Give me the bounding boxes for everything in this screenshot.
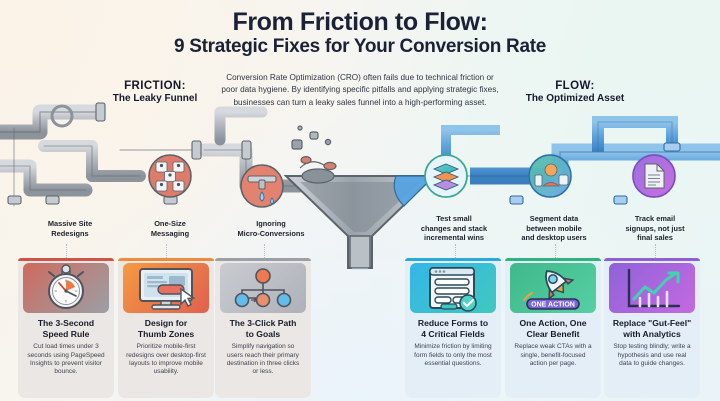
connector-line: [555, 244, 556, 258]
pipe-label-ignoring-micro-conversions: IgnoringMicro-Conversions: [216, 219, 326, 238]
pipe-label-massive-site-redesigns: Massive SiteRedesigns: [28, 219, 112, 238]
card-description: Simplify navigation so users reach their…: [220, 343, 306, 377]
card-title: One Action, OneClear Benefit: [510, 318, 596, 339]
card-accent-bar: [18, 258, 114, 261]
card-accent-bar: [505, 258, 601, 261]
form-check-icon: [410, 263, 496, 313]
card-title: Reduce Forms to4 Critical Fields: [410, 318, 496, 339]
desktop-cursor-icon: [123, 263, 209, 313]
card-accent-bar: [215, 258, 311, 261]
people-grid-icon: [149, 155, 191, 197]
document-icon: [633, 155, 675, 197]
connector-line: [655, 244, 656, 258]
card-accent-bar: [405, 258, 501, 261]
pipe-label-track-email-signups: Track emailsignups, not justfinal sales: [606, 214, 704, 243]
card-replace-gut-feel-with-analytics[interactable]: Replace "Gut-Feel"with Analytics Stop te…: [604, 258, 700, 398]
audience-segment-icon: [529, 155, 571, 197]
layers-icon: [425, 155, 467, 197]
card-description: Cut load times under 3 seconds using Pag…: [23, 343, 109, 377]
card-description: Stop testing blindly; write a hypothesis…: [609, 343, 695, 368]
connector-line: [455, 244, 456, 258]
pipe-label-segment-data: Segment databetween mobileand desktop us…: [504, 214, 604, 243]
rocket-icon: ONE ACTION: [510, 263, 596, 313]
card-description: Prioritize mobile-first redesigns over d…: [123, 343, 209, 377]
card-title: Replace "Gut-Feel"with Analytics: [609, 318, 695, 339]
card-one-action-one-clear-benefit[interactable]: ONE ACTION One Action, OneClear Benefit …: [505, 258, 601, 398]
card-three-click-path-to-goals[interactable]: The 3-Click Pathto Goals Simplify naviga…: [215, 258, 311, 398]
infographic-poster: From Friction to Flow: 9 Strategic Fixes…: [0, 0, 720, 401]
connector-line: [264, 244, 265, 258]
card-title: The 3-SecondSpeed Rule: [23, 318, 109, 339]
connector-line: [166, 244, 167, 258]
leaking-valve-icon: [241, 165, 283, 207]
connector-line: [66, 244, 67, 258]
one-action-badge-text: ONE ACTION: [531, 301, 575, 308]
card-accent-bar: [118, 258, 214, 261]
card-description: Replace weak CTAs with a single, benefit…: [510, 343, 596, 368]
card-title: The 3-Click Pathto Goals: [220, 318, 306, 339]
card-description: Minimize friction by limiting form field…: [410, 343, 496, 368]
card-three-second-speed-rule[interactable]: The 3-SecondSpeed Rule Cut load times un…: [18, 258, 114, 398]
node-tree-icon: [220, 263, 306, 313]
pipe-label-test-small-changes: Test smallchanges and stackincremental w…: [406, 214, 502, 243]
card-accent-bar: [604, 258, 700, 261]
card-title: Design forThumb Zones: [123, 318, 209, 339]
card-reduce-forms-to-four-fields[interactable]: Reduce Forms to4 Critical Fields Minimiz…: [405, 258, 501, 398]
card-design-for-thumb-zones[interactable]: Design forThumb Zones Prioritize mobile-…: [118, 258, 214, 398]
growth-chart-icon: [609, 263, 695, 313]
pipe-label-one-size-messaging: One-SizeMessaging: [130, 219, 210, 238]
stopwatch-icon: [23, 263, 109, 313]
